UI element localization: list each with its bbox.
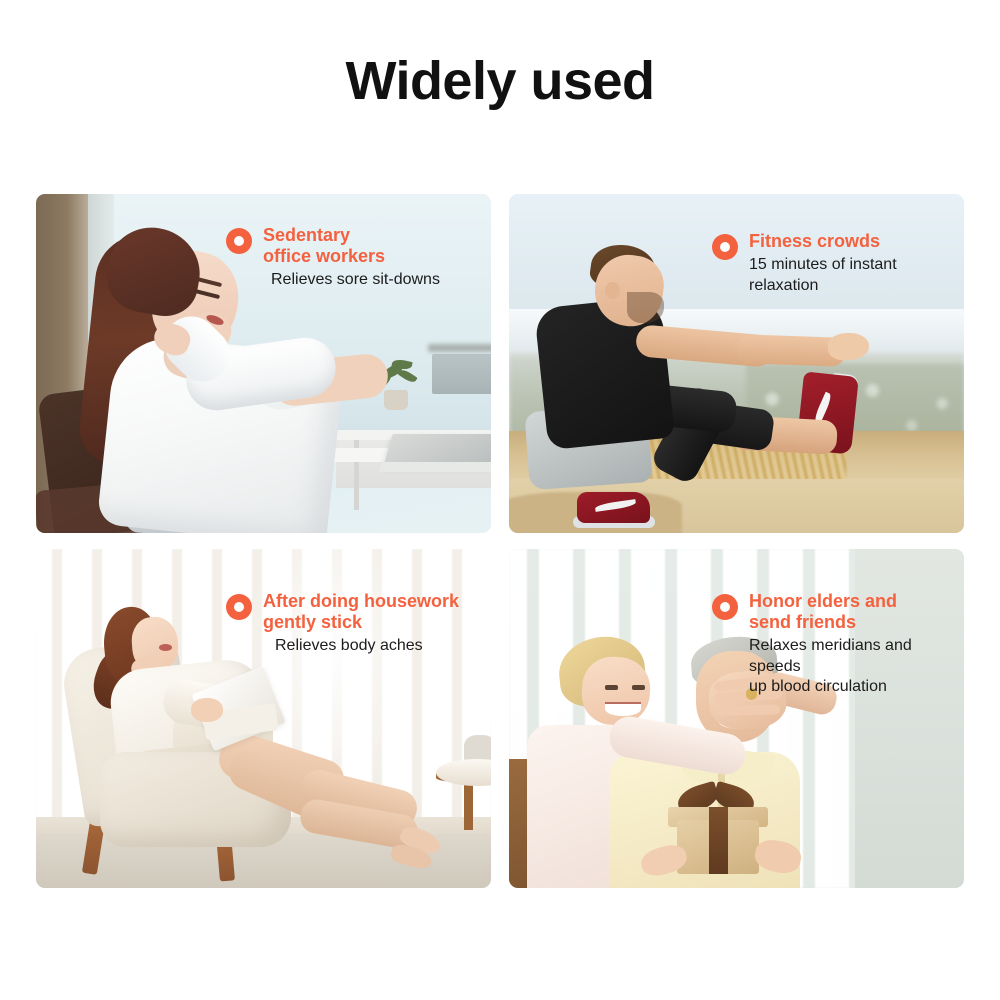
panel-caption: Sedentary office workers Relieves sore s…: [226, 225, 440, 291]
panel-subtitle: Relaxes meridians and speeds up blood ci…: [749, 636, 964, 697]
panel-heading: After doing housework gently stick: [263, 591, 459, 632]
panel-caption: Fitness crowds 15 minutes of instant rel…: [712, 231, 897, 296]
panel-caption: Honor elders and send friends Relaxes me…: [712, 591, 964, 698]
panel-sedentary-office-workers[interactable]: Sedentary office workers Relieves sore s…: [36, 194, 491, 533]
panel-after-doing-housework[interactable]: After doing housework gently stick Relie…: [36, 549, 491, 888]
panel-subtitle: Relieves sore sit-downs: [271, 270, 440, 290]
panel-honor-elders-send-friends[interactable]: Honor elders and send friends Relaxes me…: [509, 549, 964, 888]
panel-subtitle: 15 minutes of instant relaxation: [749, 255, 897, 296]
panel-fitness-crowds[interactable]: Fitness crowds 15 minutes of instant rel…: [509, 194, 964, 533]
ring-bullet-icon: [226, 228, 252, 254]
ring-bullet-icon: [712, 594, 738, 620]
page-title: Widely used: [0, 52, 1000, 111]
panel-heading: Sedentary office workers: [263, 225, 385, 266]
panel-heading: Honor elders and send friends: [749, 591, 897, 632]
infographic-page: Widely used: [0, 0, 1000, 1000]
panel-grid: Sedentary office workers Relieves sore s…: [36, 194, 964, 888]
ring-bullet-icon: [226, 594, 252, 620]
panel-caption: After doing housework gently stick Relie…: [226, 591, 459, 657]
ring-bullet-icon: [712, 234, 738, 260]
panel-heading: Fitness crowds: [749, 231, 880, 251]
panel-subtitle: Relieves body aches: [275, 636, 459, 656]
